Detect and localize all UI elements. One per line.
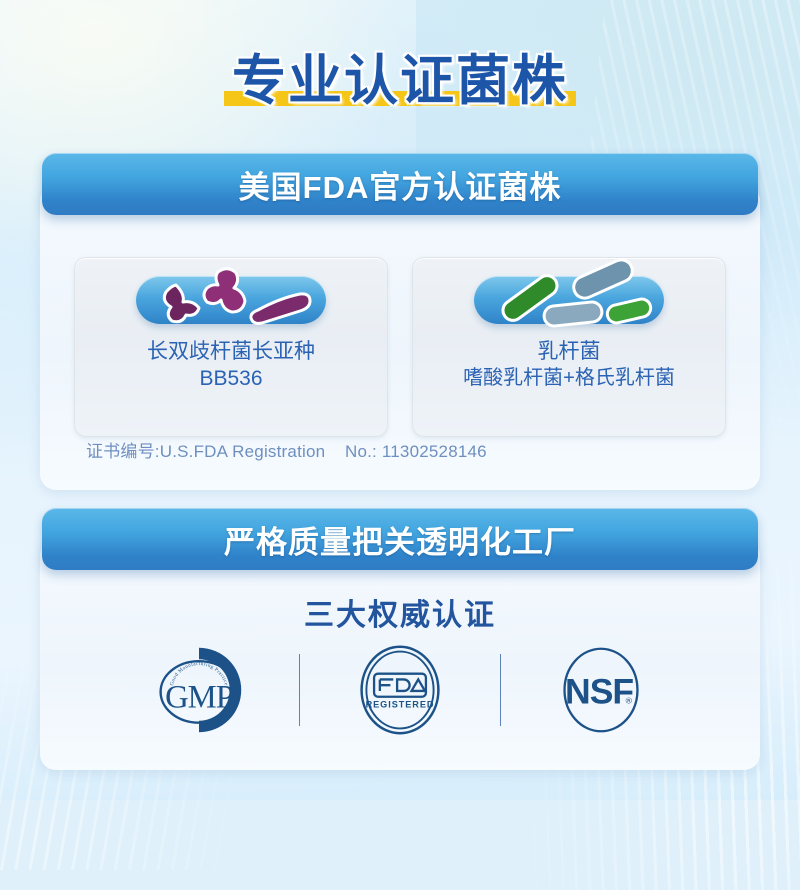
strain-card-lactobacillus[interactable]: 乳杆菌 嗜酸乳杆菌+格氏乳杆菌: [412, 257, 726, 437]
svg-text:NSF: NSF: [565, 671, 633, 711]
microbe-pill-background: [474, 276, 664, 324]
page-title-text: 专业认证菌株: [232, 51, 568, 111]
authority-title: 三大权威认证: [40, 590, 760, 634]
certificate-label: 证书编号:U.S.FDA Registration: [86, 442, 325, 461]
gmp-logo: Good Manufacturing Practice GMP: [151, 642, 247, 738]
strain-name-line2: 嗜酸乳杆菌+格氏乳杆菌: [463, 365, 675, 392]
logo-divider: [500, 654, 501, 726]
strain-name-line2: BB536: [147, 365, 315, 392]
fda-registered-logo: REGISTERED: [352, 642, 448, 738]
svg-text:®: ®: [626, 695, 633, 705]
factory-certification-panel: 三大权威认证 Good Manufacturing Practice GMP: [40, 540, 760, 770]
fda-section-header: 美国FDA官方认证菌株: [42, 153, 758, 215]
factory-section-header-text: 严格质量把关透明化工厂: [224, 517, 576, 562]
strain-card-bb536[interactable]: 长双歧杆菌长亚种 BB536: [74, 257, 388, 437]
certificate-number: 证书编号:U.S.FDA Registration No.: 113025281…: [86, 437, 487, 462]
logo-cell-gmp[interactable]: Good Manufacturing Practice GMP: [99, 642, 299, 738]
certification-logo-row: Good Manufacturing Practice GMP REGISTER…: [40, 642, 760, 738]
nsf-logo: NSF ®: [553, 642, 649, 738]
page-title: 专业认证菌株: [0, 44, 800, 118]
svg-text:REGISTERED: REGISTERED: [366, 699, 435, 709]
fda-section-header-text: 美国FDA官方认证菌株: [239, 162, 562, 207]
fda-certification-panel: 长双歧杆菌长亚种 BB536 乳杆菌 嗜酸乳杆菌+格氏乳杆菌: [40, 185, 760, 490]
lactobacillus-icon: [444, 252, 694, 348]
microbe-pill-background: [136, 276, 326, 324]
logo-divider: [299, 654, 300, 726]
strain-card-row: 长双歧杆菌长亚种 BB536 乳杆菌 嗜酸乳杆菌+格氏乳杆菌: [74, 257, 726, 437]
factory-section-header: 严格质量把关透明化工厂: [42, 508, 758, 570]
logo-cell-nsf[interactable]: NSF ®: [501, 642, 701, 738]
certificate-number-value: No.: 11302528146: [345, 442, 487, 461]
bifidobacterium-icon: [106, 252, 356, 348]
logo-cell-fda[interactable]: REGISTERED: [300, 642, 500, 738]
svg-text:GMP: GMP: [165, 679, 233, 715]
